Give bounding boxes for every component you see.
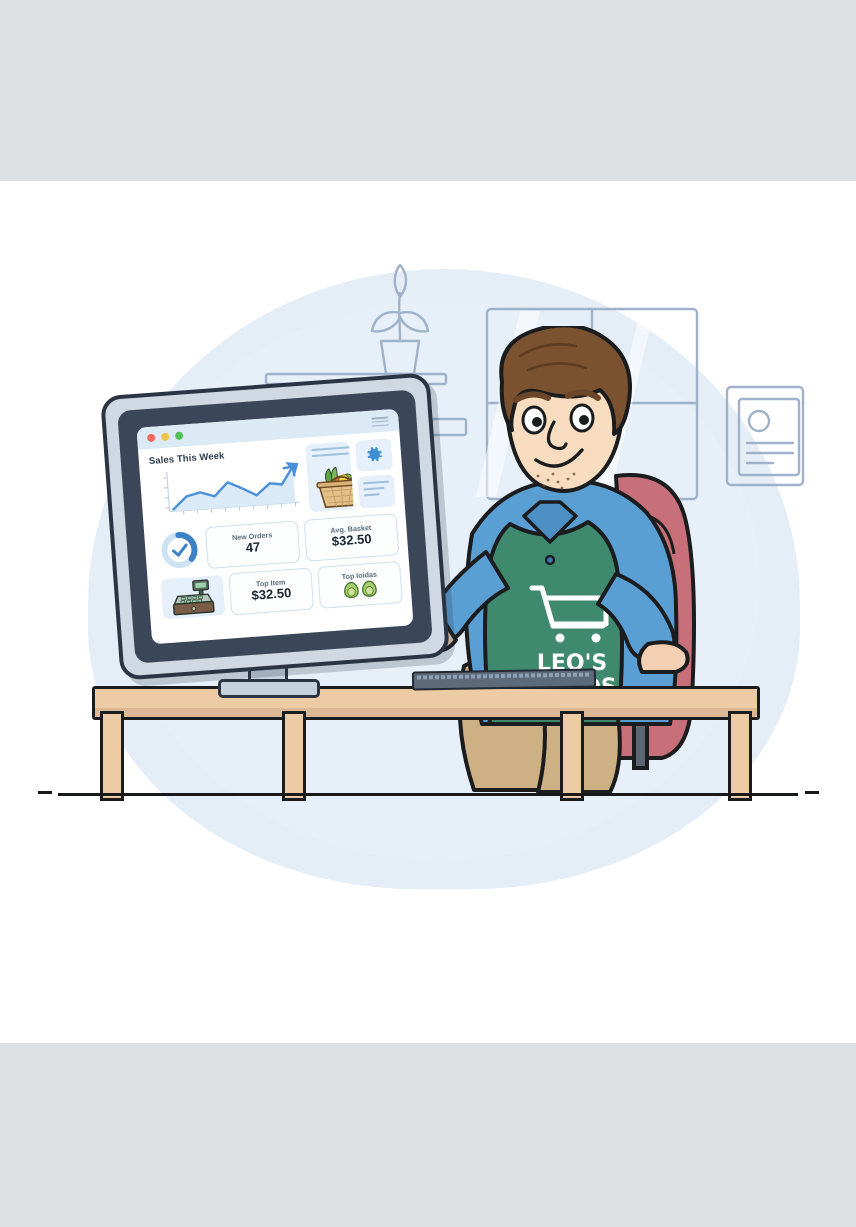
ground-line xyxy=(58,793,798,796)
window-minimize-dot[interactable] xyxy=(161,433,170,442)
produce-basket-icon xyxy=(308,462,354,510)
list-line xyxy=(363,487,384,491)
gear-icon xyxy=(364,445,384,465)
produce-basket-card[interactable] xyxy=(305,441,354,512)
shopkeeper-figure: LEO'S GOODS xyxy=(420,326,750,796)
list-card[interactable] xyxy=(358,474,396,509)
dashboard-side-column xyxy=(355,438,396,508)
ground-dash-left xyxy=(38,791,52,794)
avocado-icon xyxy=(361,579,377,597)
illustration-canvas: LEO'S GOODS xyxy=(0,181,856,1043)
monitor: Sales This Week xyxy=(100,372,450,680)
dashboard-row-top: Sales This Week xyxy=(148,438,396,524)
cash-register-card[interactable] xyxy=(161,575,226,619)
sales-chart-card[interactable]: Sales This Week xyxy=(148,445,305,524)
monitor-base xyxy=(218,679,320,698)
list-line xyxy=(363,481,389,485)
sales-line-chart xyxy=(148,458,304,523)
avocado-icon xyxy=(343,581,359,599)
kpi-value: $32.50 xyxy=(251,585,292,604)
ground-dash-right xyxy=(805,791,819,794)
desk-leg xyxy=(282,711,306,801)
dashboard-screen: Sales This Week xyxy=(136,409,413,645)
kpi-value: 47 xyxy=(245,540,261,557)
list-line xyxy=(364,493,380,496)
monitor-bezel: Sales This Week xyxy=(100,372,450,680)
window-close-dot[interactable] xyxy=(147,434,156,443)
desk-leg xyxy=(728,711,752,801)
head xyxy=(501,326,630,491)
kpi-card-new-orders[interactable]: New Orders 47 xyxy=(205,520,301,569)
dashboard-body: Sales This Week xyxy=(138,431,414,645)
avocado-icon-group xyxy=(343,579,377,598)
monitor-inner-bezel: Sales This Week xyxy=(117,389,433,663)
kpi-card-top-item[interactable]: Top Item $32.50 xyxy=(228,567,314,615)
window-maximize-dot[interactable] xyxy=(175,431,184,440)
check-circle-gauge-icon[interactable] xyxy=(157,528,202,573)
desk-surface xyxy=(92,686,760,720)
hamburger-menu-icon[interactable] xyxy=(371,416,389,426)
desk-leg xyxy=(560,711,584,801)
keyboard[interactable] xyxy=(412,668,596,690)
cash-register-icon xyxy=(167,577,220,617)
letterbox-top xyxy=(0,0,856,181)
kpi-value: $32.50 xyxy=(331,531,372,550)
kpi-card-top-avocados[interactable]: Top Ioidas xyxy=(317,561,403,609)
basket-card-text-lines xyxy=(311,446,354,461)
keyboard-keys xyxy=(417,672,591,679)
kpi-card-avg-basket[interactable]: Avg. Basket $32.50 xyxy=(304,513,400,562)
settings-card[interactable] xyxy=(355,438,393,472)
desk-leg xyxy=(100,711,124,801)
letterbox-bottom xyxy=(0,1043,856,1227)
